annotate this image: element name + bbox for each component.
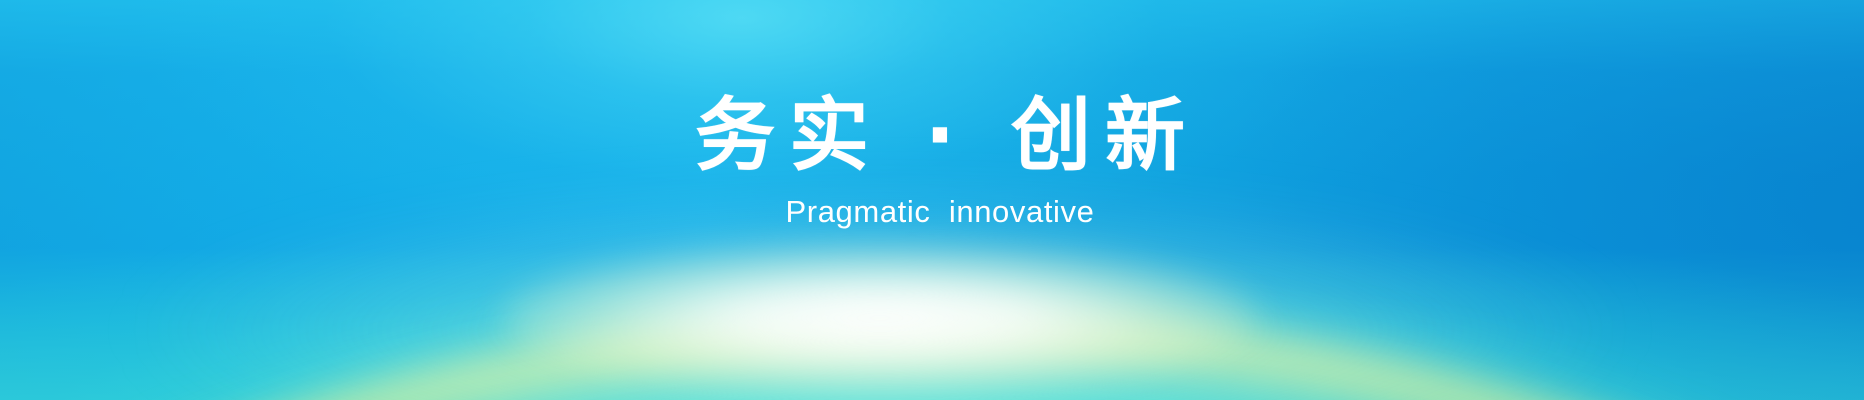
banner-title: 务实 · 创新 xyxy=(681,96,1199,176)
hero-banner: 务实 · 创新 Pragmatic innovative xyxy=(0,0,1864,400)
banner-subtitle: Pragmatic innovative xyxy=(786,196,1095,227)
banner-content: 务实 · 创新 Pragmatic innovative xyxy=(0,0,1864,400)
